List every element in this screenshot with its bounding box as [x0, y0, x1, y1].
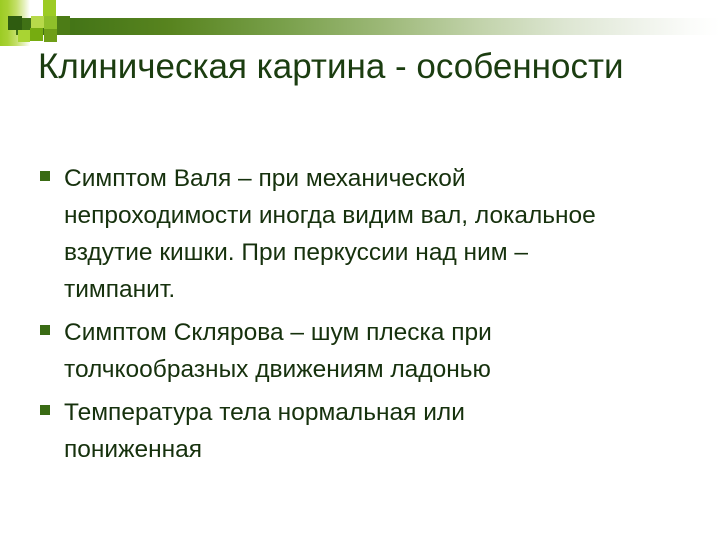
bullet-item: Симптом Склярова – шум плеска при толчко…: [36, 314, 696, 388]
slide-body: Симптом Валя – при механической непроход…: [36, 160, 696, 474]
bullet-text: Симптом Склярова – шум плеска при толчко…: [64, 314, 569, 388]
bullet-item: Температура тела нормальная или пониженн…: [36, 394, 696, 468]
bullet-text: Симптом Валя – при механической непроход…: [64, 160, 604, 308]
square-dark-left: [8, 16, 22, 30]
square-light-upper: [31, 16, 44, 28]
square-mid-green: [30, 28, 43, 41]
square-bullet-icon: [40, 171, 50, 181]
slide-canvas: Клиническая картина - особенности Симпто…: [0, 0, 720, 540]
square-dark-b: [57, 16, 70, 35]
square-olive-b: [44, 29, 57, 42]
bullet-text: Температура тела нормальная или пониженн…: [64, 394, 564, 468]
bullet-item: Симптом Валя – при механической непроход…: [36, 160, 696, 308]
square-lime-lower: [18, 30, 30, 42]
band-gradient-bar: [16, 18, 720, 35]
square-bullet-icon: [40, 325, 50, 335]
square-bullet-icon: [40, 405, 50, 415]
slide-title: Клиническая картина - особенности: [38, 46, 688, 87]
square-olive-a: [44, 16, 57, 29]
square-lime-top: [43, 0, 56, 16]
top-decoration-band: [0, 0, 720, 46]
